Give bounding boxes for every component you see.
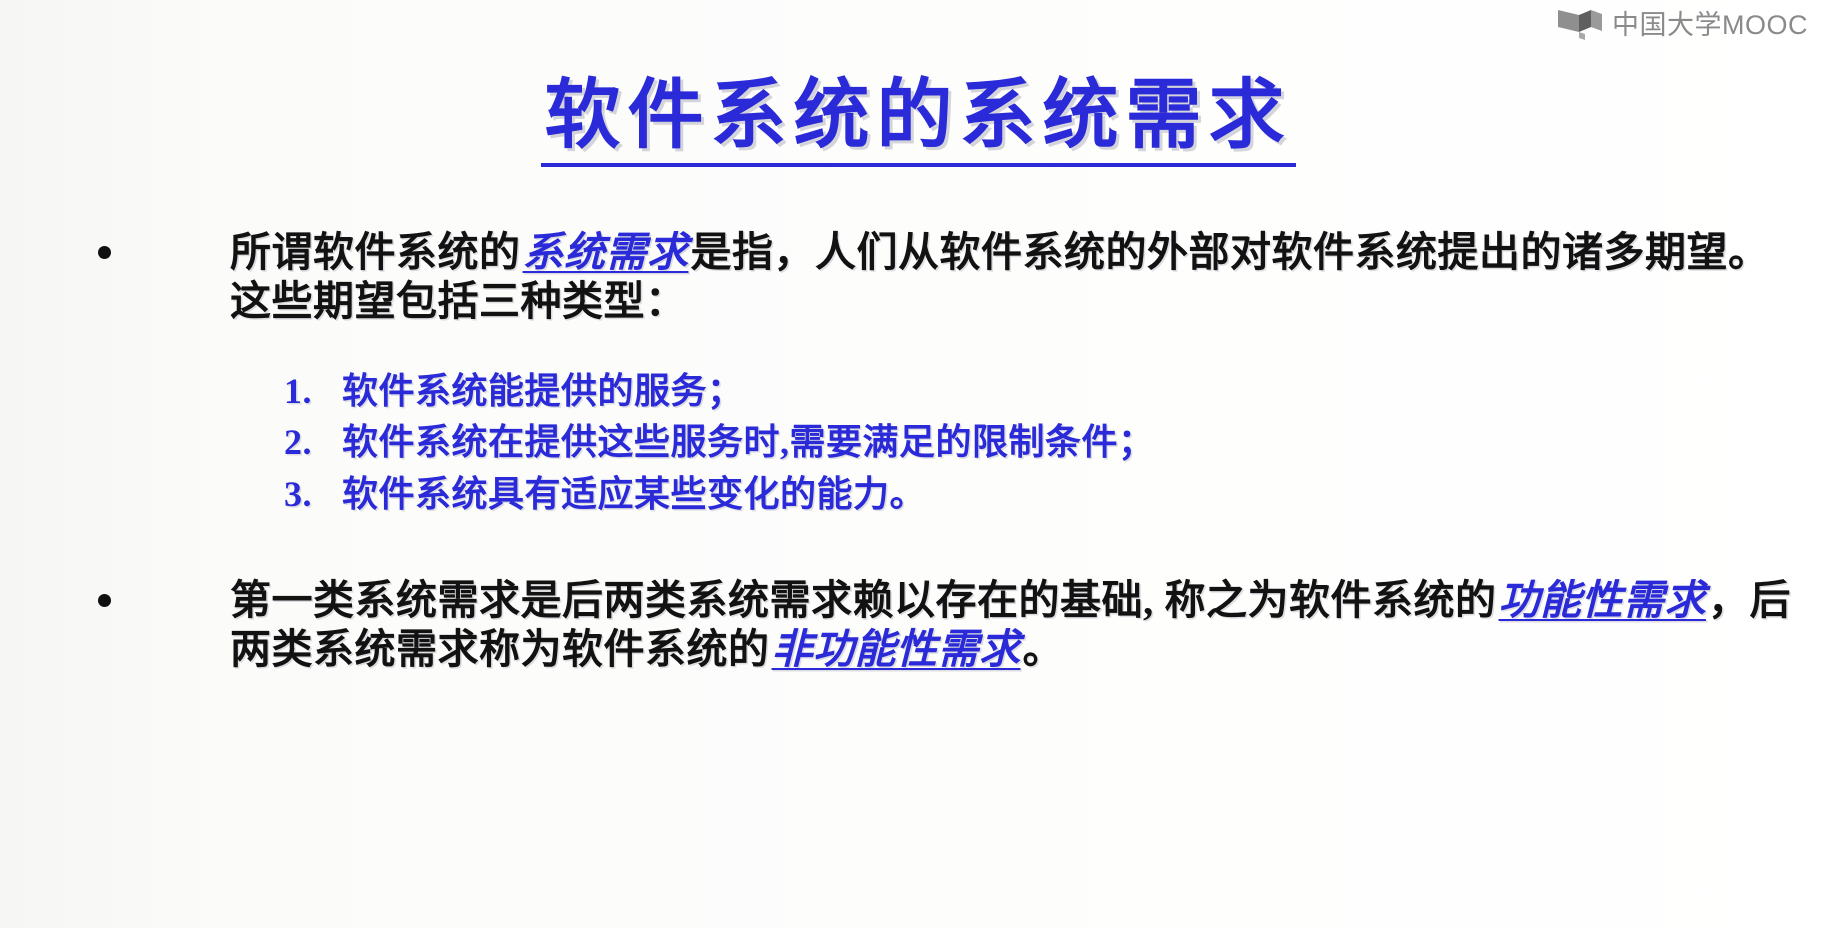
slide-title-container: 软件系统的系统需求 (0, 72, 1836, 167)
bullet-dot-icon (98, 594, 111, 607)
page-title: 软件系统的系统需求 (541, 72, 1296, 167)
list-item-label: 软件系统能提供的服务； (342, 371, 744, 411)
bullet-paragraph-2: 第一类系统需求是后两类系统需求赖以存在的基础, 称之为软件系统的功能性需求，后两… (90, 576, 1796, 674)
list-item-number: 2. (284, 417, 312, 468)
list-item-number: 1. (284, 366, 312, 417)
paragraph-2-part-1: 第一类系统需求是后两类系统需求赖以存在的基础, 称之为软件系统的 (230, 577, 1497, 623)
list-item: 3. 软件系统具有适应某些变化的能力。 (342, 469, 1796, 520)
open-book-icon (1557, 8, 1603, 42)
paragraph-2-emphasis-nonfunctional-requirement: 非功能性需求 (770, 626, 1023, 672)
paragraph-2-text: 第一类系统需求是后两类系统需求赖以存在的基础, 称之为软件系统的功能性需求，后两… (230, 576, 1796, 674)
bullet-dot-icon (98, 246, 111, 259)
list-item-label: 软件系统在提供这些服务时,需要满足的限制条件； (342, 422, 1155, 462)
paragraph-1-part-1: 所谓软件系统的 (230, 229, 521, 275)
list-item-label: 软件系统具有适应某些变化的能力。 (342, 474, 926, 514)
list-item: 1. 软件系统能提供的服务； (342, 366, 1796, 417)
paragraph-2-emphasis-functional-requirement: 功能性需求 (1497, 577, 1709, 623)
brand-name: 中国大学MOOC (1612, 12, 1808, 39)
paragraph-1-text: 所谓软件系统的系统需求是指，人们从软件系统的外部对软件系统提出的诸多期望。这些期… (230, 228, 1796, 326)
list-item: 2. 软件系统在提供这些服务时,需要满足的限制条件； (342, 417, 1796, 468)
slide-body: 所谓软件系统的系统需求是指，人们从软件系统的外部对软件系统提出的诸多期望。这些期… (0, 228, 1836, 674)
paragraph-2-part-3: 。 (1023, 626, 1065, 672)
list-item-number: 3. (284, 469, 312, 520)
paragraph-1-emphasis-system-requirement: 系统需求 (521, 229, 691, 275)
spacer (90, 520, 1796, 576)
requirement-type-list: 1. 软件系统能提供的服务； 2. 软件系统在提供这些服务时,需要满足的限制条件… (90, 366, 1796, 519)
presentation-slide: 中国大学MOOC 软件系统的系统需求 所谓软件系统的系统需求是指，人们从软件系统… (0, 0, 1836, 928)
brand-watermark: 中国大学MOOC (1557, 8, 1808, 42)
bullet-paragraph-1: 所谓软件系统的系统需求是指，人们从软件系统的外部对软件系统提出的诸多期望。这些期… (90, 228, 1796, 326)
